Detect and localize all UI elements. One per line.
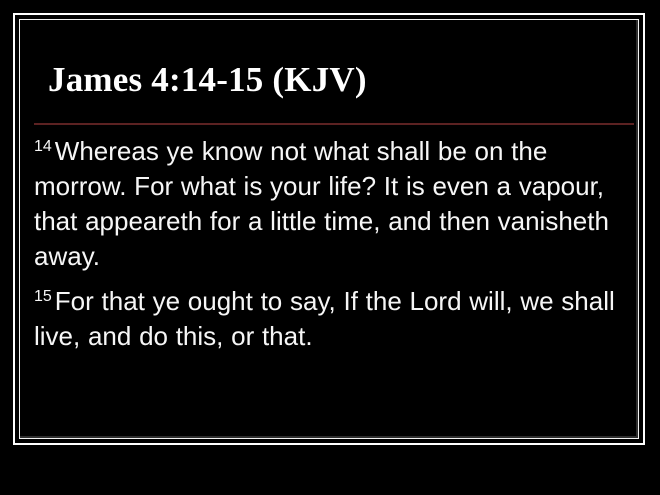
- verse-number: 14: [34, 138, 55, 155]
- title-divider-rule: [34, 123, 634, 125]
- presentation-slide: James 4:14-15 (KJV) 14Whereas ye know no…: [0, 0, 660, 495]
- slide-title-block: James 4:14-15 (KJV): [22, 60, 636, 100]
- verse-text: Whereas ye know not what shall be on the…: [34, 136, 609, 271]
- verse-paragraph: 14Whereas ye know not what shall be on t…: [34, 134, 634, 274]
- verse-body-block: 14Whereas ye know not what shall be on t…: [34, 134, 634, 354]
- page-title: James 4:14-15 (KJV): [22, 60, 636, 100]
- verse-text: For that ye ought to say, If the Lord wi…: [34, 286, 615, 351]
- verse-number: 15: [34, 288, 55, 305]
- verse-paragraph: 15For that ye ought to say, If the Lord …: [34, 284, 634, 354]
- slide-content: James 4:14-15 (KJV) 14Whereas ye know no…: [22, 22, 636, 436]
